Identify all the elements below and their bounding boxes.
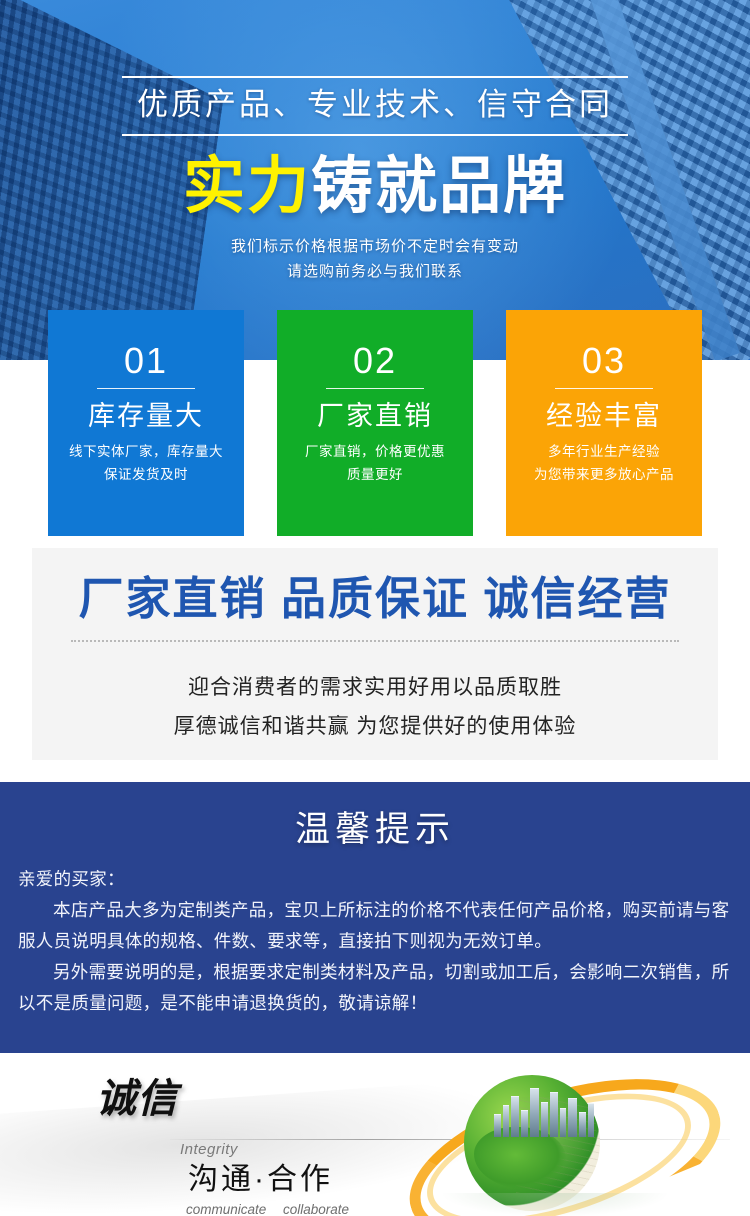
warm-tips-title: 温馨提示	[0, 782, 750, 854]
feature-card-divider	[97, 388, 195, 389]
feature-card-desc-line2: 质量更好	[283, 463, 467, 486]
hero-title-rest: 铸就品牌	[311, 152, 567, 221]
feature-card-description: 多年行业生产经验 为您带来更多放心产品	[506, 440, 702, 486]
warm-tips-paragraph-1: 本店产品大多为定制类产品，宝贝上所标注的价格不代表任何产品价格，购买前请与客服人…	[18, 895, 732, 957]
city-skyline-icon	[490, 1079, 600, 1137]
feature-card-divider	[555, 388, 653, 389]
footer-collaborate-en: collaborate	[283, 1202, 349, 1216]
feature-card-number: 02	[277, 340, 473, 382]
footer-integrity-en: Integrity	[180, 1141, 238, 1158]
hero-content: 优质产品、专业技术、信守合同 实力铸就品牌 我们标示价格根据市场价不定时会有变动…	[0, 0, 750, 284]
feature-card-desc-line2: 为您带来更多放心产品	[512, 463, 696, 486]
feature-card-01[interactable]: 01 库存量大 线下实体厂家，库存量大 保证发货及时	[48, 310, 244, 536]
slogan-dotted-divider	[71, 640, 679, 642]
feature-card-description: 厂家直销，价格更优惠 质量更好	[277, 440, 473, 486]
slogan-subtext-line1: 迎合消费者的需求实用好用以品质取胜	[32, 668, 718, 707]
slogan-headline: 厂家直销 品质保证 诚信经营	[32, 548, 718, 628]
feature-cards: 01 库存量大 线下实体厂家，库存量大 保证发货及时 02 厂家直销 厂家直销，…	[48, 310, 702, 536]
warm-tips-paragraph-2: 另外需要说明的是，根据要求定制类材料及产品，切割或加工后，会影响二次销售，所以不…	[18, 957, 732, 1019]
promo-banner-page: 优质产品、专业技术、信守合同 实力铸就品牌 我们标示价格根据市场价不定时会有变动…	[0, 0, 750, 1216]
warm-tips-salutation: 亲爱的买家：	[18, 864, 732, 895]
footer-integrity-cn: 诚信	[96, 1075, 178, 1123]
feature-card-divider	[326, 388, 424, 389]
feature-card-03[interactable]: 03 经验丰富 多年行业生产经验 为您带来更多放心产品	[506, 310, 702, 536]
hero-tagline: 优质产品、专业技术、信守合同	[122, 85, 628, 125]
slogan-subtext: 迎合消费者的需求实用好用以品质取胜 厚德诚信和谐共赢 为您提供好的使用体验	[32, 668, 718, 746]
hero-title-highlight: 实力	[183, 152, 311, 221]
slogan-panel: 厂家直销 品质保证 诚信经营 迎合消费者的需求实用好用以品质取胜 厚德诚信和谐共…	[32, 548, 718, 760]
footer-graphic-section: 诚信 Integrity 沟通·合作 communicate collabora…	[0, 1053, 750, 1216]
feature-card-heading: 库存量大	[48, 398, 244, 434]
globe-reflection	[440, 1193, 670, 1216]
feature-card-heading: 厂家直销	[277, 398, 473, 434]
hero-tagline-box: 优质产品、专业技术、信守合同	[122, 76, 628, 136]
hero-price-note: 我们标示价格根据市场价不定时会有变动 请选购前务必与我们联系	[0, 234, 750, 284]
warm-tips-section: 温馨提示 亲爱的买家： 本店产品大多为定制类产品，宝贝上所标注的价格不代表任何产…	[0, 782, 750, 1053]
feature-card-number: 01	[48, 340, 244, 382]
feature-card-heading: 经验丰富	[506, 398, 702, 434]
hero-price-note-line1: 我们标示价格根据市场价不定时会有变动	[0, 234, 750, 259]
hero-section: 优质产品、专业技术、信守合同 实力铸就品牌 我们标示价格根据市场价不定时会有变动…	[0, 0, 750, 360]
feature-card-02[interactable]: 02 厂家直销 厂家直销，价格更优惠 质量更好	[277, 310, 473, 536]
warm-tips-body: 亲爱的买家： 本店产品大多为定制类产品，宝贝上所标注的价格不代表任何产品价格，购…	[0, 854, 750, 1019]
feature-card-desc-line1: 多年行业生产经验	[512, 440, 696, 463]
hero-title: 实力铸就品牌	[0, 150, 750, 224]
feature-card-desc-line1: 厂家直销，价格更优惠	[283, 440, 467, 463]
footer-communicate-en: communicate	[186, 1202, 266, 1216]
slogan-subtext-line2: 厚德诚信和谐共赢 为您提供好的使用体验	[32, 707, 718, 746]
hero-price-note-line2: 请选购前务必与我们联系	[0, 259, 750, 284]
feature-card-description: 线下实体厂家，库存量大 保证发货及时	[48, 440, 244, 486]
feature-card-desc-line1: 线下实体厂家，库存量大	[54, 440, 238, 463]
feature-card-number: 03	[506, 340, 702, 382]
feature-card-desc-line2: 保证发货及时	[54, 463, 238, 486]
footer-communicate-collaborate-cn: 沟通·合作	[188, 1161, 333, 1199]
